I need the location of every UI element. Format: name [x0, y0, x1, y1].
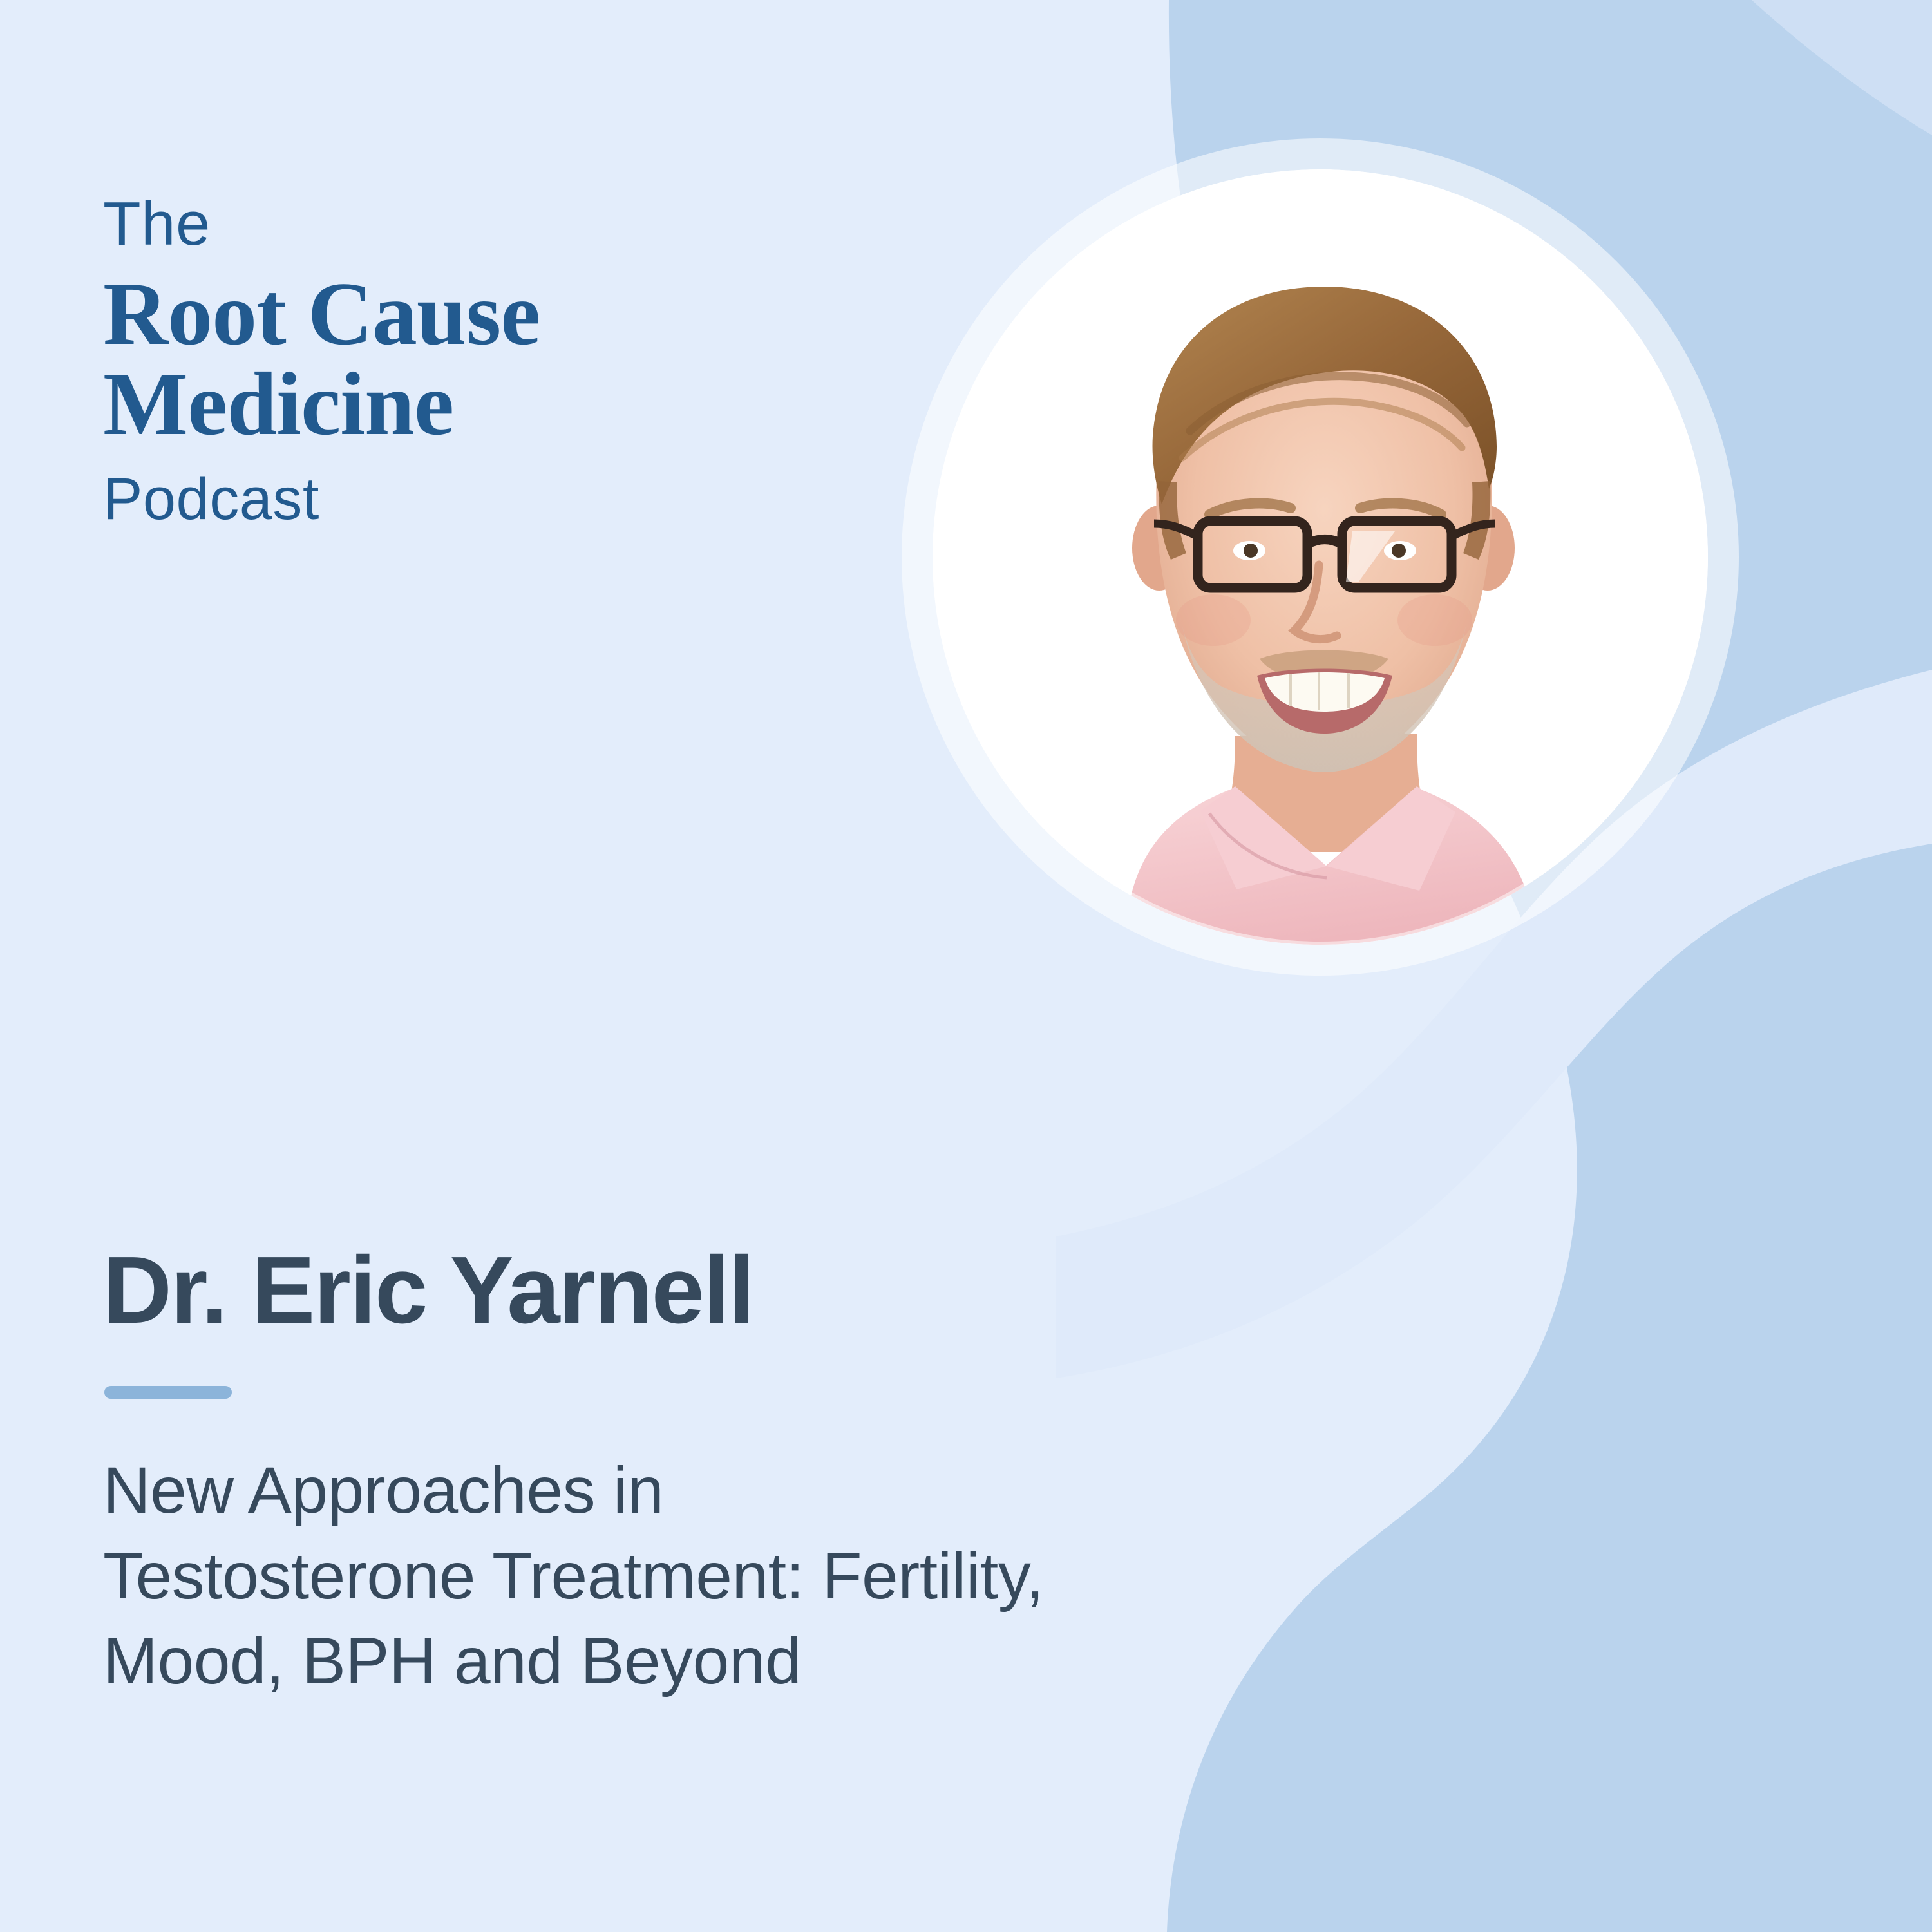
guest-portrait [902, 138, 1739, 976]
title-divider [104, 1386, 232, 1399]
episode-title: New Approaches in Testosterone Treatment… [103, 1448, 1391, 1704]
episode-title-line-3: Mood, BPH and Beyond [103, 1618, 1391, 1704]
podcast-logo: The Root Cause Medicine Podcast [103, 193, 876, 529]
logo-podcast-text: Podcast [103, 469, 876, 529]
portrait-pupil-left [1244, 544, 1258, 558]
portrait-pupil-right [1392, 544, 1406, 558]
blob-bottom-right [1368, 1520, 1932, 1932]
logo-the-text: The [103, 193, 876, 255]
portrait-cheek-left [1176, 594, 1251, 646]
portrait-cheek-right [1397, 594, 1472, 646]
podcast-cover-artwork: The Root Cause Medicine Podcast [0, 0, 1932, 1932]
guest-name: Dr. Eric Yarnell [103, 1243, 753, 1338]
logo-medicine-text: Medicine [103, 357, 876, 452]
episode-title-line-2: Testosterone Treatment: Fertility, [103, 1533, 1391, 1619]
portrait-disc [933, 169, 1708, 945]
episode-title-line-1: New Approaches in [103, 1448, 1391, 1533]
logo-root-cause-text: Root Cause [103, 267, 876, 362]
light-corner-wedge [1752, 0, 1932, 135]
